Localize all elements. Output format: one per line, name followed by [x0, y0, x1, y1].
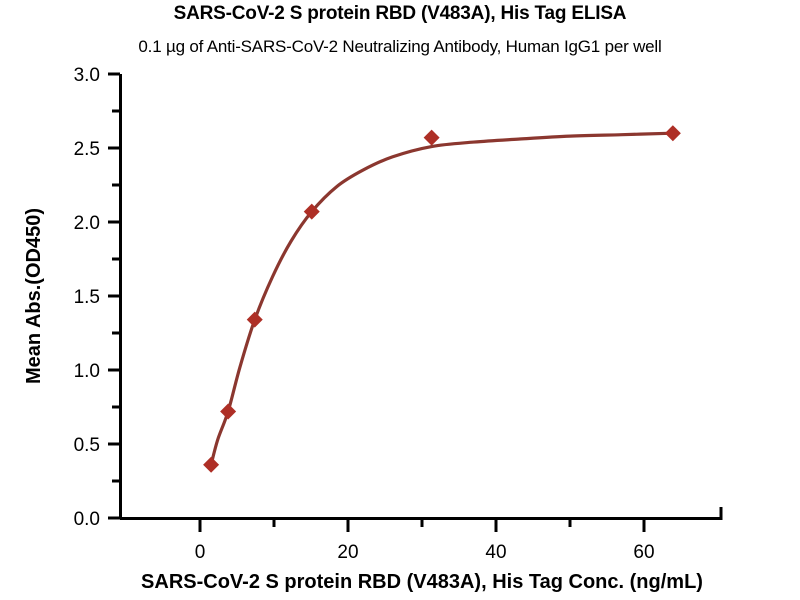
x-tick-label: 0: [195, 542, 206, 563]
y-tick-label: 0.5: [74, 435, 100, 456]
y-tick-label: 3.0: [74, 65, 100, 86]
y-axis-ticks: [108, 74, 120, 518]
y-axis-title: Mean Abs.(OD450): [23, 208, 45, 384]
data-point-marker: [247, 312, 263, 328]
data-point-marker: [220, 403, 236, 419]
data-point-marker: [203, 457, 219, 473]
elisa-binding-curve-plot: 0.00.51.01.52.02.53.0 0204060 SARS-CoV-2…: [0, 0, 800, 600]
x-tick-label: 40: [485, 542, 506, 563]
x-tick-label: 60: [633, 542, 654, 563]
y-tick-label: 1.5: [74, 287, 100, 308]
x-axis-ticks: [200, 519, 644, 532]
y-tick-label: 1.0: [74, 361, 100, 382]
x-tick-label: 20: [337, 542, 358, 563]
data-point-marker: [424, 130, 440, 146]
y-tick-label: 2.0: [74, 213, 100, 234]
x-axis-tick-labels: 0204060: [195, 542, 655, 563]
y-tick-label: 2.5: [74, 139, 100, 160]
axis-lines: [120, 74, 723, 519]
fit-curve: [211, 133, 673, 465]
y-axis-tick-labels: 0.00.51.01.52.02.53.0: [74, 65, 100, 530]
chart-page: SARS-CoV-2 S protein RBD (V483A), His Ta…: [0, 0, 800, 600]
data-point-markers: [203, 125, 681, 473]
y-tick-label: 0.0: [74, 509, 100, 530]
data-point-marker: [665, 125, 681, 141]
x-axis-title: SARS-CoV-2 S protein RBD (V483A), His Ta…: [141, 571, 703, 593]
